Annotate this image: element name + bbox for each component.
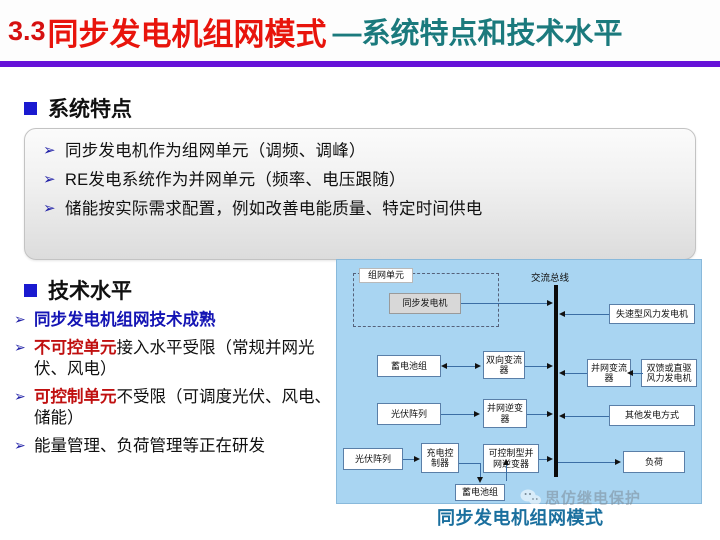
edge-charge-down (459, 463, 481, 464)
tech-item-text: 同步发电机组网技术成熟 (34, 310, 216, 331)
list-item: ➢ 能量管理、负荷管理等正在研发 (14, 436, 344, 457)
emphasis-text: 不可控单元 (34, 339, 117, 357)
section-label: 技术水平 (48, 275, 132, 305)
ac-bus-bar (554, 285, 558, 477)
title-main: 同步发电机组网模式 (48, 9, 327, 54)
section-heading-tech-level: 技术水平 (24, 275, 132, 305)
arrow-head-icon (547, 411, 553, 417)
wechat-icon (520, 489, 542, 506)
section-heading-features: 系统特点 (24, 93, 132, 123)
arrow-head-icon (503, 459, 509, 465)
arrow-head-icon (477, 477, 483, 483)
node-charge-controller: 充电控制器 (421, 443, 459, 473)
list-item: ➢ 可控制单元不受限（可调度光伏、风电、储能） (14, 387, 344, 429)
node-controllable-grid-inverter: 可控制型并网逆变器 (483, 444, 539, 473)
edge-bus-load (558, 462, 616, 463)
arrow-head-icon (559, 311, 565, 317)
features-panel: ➢ 同步发电机作为组网单元（调频、调峰） ➢ RE发电系统作为并网单元（频率、电… (24, 128, 696, 260)
arrow-head-icon (547, 300, 553, 306)
list-item: ➢ 不可控单元接入水平受限（常规并网光伏、风电） (14, 338, 344, 380)
edge-pv-inverter (441, 414, 475, 415)
edge-gridconv-bus (565, 373, 587, 374)
section-label: 系统特点 (48, 93, 132, 123)
square-bullet-icon (24, 102, 37, 115)
arrow-head-icon (547, 363, 553, 369)
node-sync-generator: 同步发电机 (389, 293, 461, 314)
feature-text: 储能按实际需求配置，例如改善电能质量、特定时间供电 (65, 199, 483, 219)
watermark-text: 思仿继电保护 (545, 487, 641, 508)
arrow-head-icon (414, 456, 420, 462)
list-item: ➢ 储能按实际需求配置，例如改善电能质量、特定时间供电 (43, 199, 683, 219)
slide-header: 3.3 同步发电机组网模式 —系统特点和技术水平 (0, 0, 720, 66)
node-grid-inverter: 并网逆变器 (483, 399, 527, 428)
arrow-head-icon (441, 363, 447, 369)
arrow-bullet-icon: ➢ (14, 310, 34, 331)
tech-item-text: 可控制单元不受限（可调度光伏、风电、储能） (34, 387, 344, 429)
edge-stallwind-bus (565, 314, 609, 315)
node-pv-array-2: 光伏阵列 (343, 448, 403, 470)
tech-item-text: 不可控单元接入水平受限（常规并网光伏、风电） (34, 338, 344, 380)
arrow-head-icon (547, 456, 553, 462)
arrow-bullet-icon: ➢ (43, 141, 65, 160)
edge-syncgen-bus (461, 303, 549, 304)
node-battery-1: 蓄电池组 (377, 355, 441, 377)
node-pv-array-1: 光伏阵列 (377, 403, 441, 425)
arrow-head-icon (627, 370, 633, 376)
node-dfig-wind: 双馈或直驱风力发电机 (641, 359, 697, 387)
emphasis-text: 可控制单元 (34, 388, 117, 406)
group-label-box: 组网单元 (359, 268, 413, 283)
arrow-head-icon (615, 459, 621, 465)
arrow-head-icon (559, 370, 565, 376)
list-item: ➢ RE发电系统作为并网单元（频率、电压跟随） (43, 170, 683, 190)
node-grid-converter: 并网变流器 (587, 359, 631, 387)
arrow-bullet-icon: ➢ (43, 199, 65, 218)
arrow-head-icon (474, 411, 480, 417)
title-subtitle: —系统特点和技术水平 (333, 10, 623, 52)
features-list: ➢ 同步发电机作为组网单元（调频、调峰） ➢ RE发电系统作为并网单元（频率、电… (43, 141, 683, 228)
arrow-head-icon (475, 363, 481, 369)
node-load: 负荷 (623, 451, 685, 473)
system-diagram: 组网单元 交流总线 同步发电机 失速型风力发电机 蓄电池组 双向变流器 并网变流… (336, 259, 702, 504)
emphasis-text: 同步发电机组网技术成熟 (34, 311, 216, 329)
edge-inverter-bus (527, 414, 549, 415)
node-battery-2: 蓄电池组 (455, 484, 505, 501)
edge-battery-ctrlinv (506, 465, 507, 481)
arrow-bullet-icon: ➢ (43, 170, 65, 189)
tech-level-list: ➢ 同步发电机组网技术成熟 ➢ 不可控单元接入水平受限（常规并网光伏、风电） ➢… (14, 310, 344, 464)
edge-bidir-bus (525, 366, 549, 367)
node-other-generation: 其他发电方式 (609, 405, 695, 426)
edge-othergen-bus (565, 416, 609, 417)
bus-label: 交流总线 (531, 270, 569, 284)
arrow-bullet-icon: ➢ (14, 387, 34, 408)
tech-item-text: 能量管理、负荷管理等正在研发 (34, 436, 265, 457)
title-divider (0, 61, 720, 67)
page-title: 3.3 同步发电机组网模式 —系统特点和技术水平 (8, 4, 720, 58)
arrow-head-icon (559, 413, 565, 419)
node-bidirectional-converter: 双向变流器 (483, 351, 525, 379)
title-number: 3.3 (8, 16, 46, 47)
rest-text: 能量管理、负荷管理等正在研发 (34, 437, 265, 455)
feature-text: 同步发电机作为组网单元（调频、调峰） (65, 141, 366, 161)
watermark: 思仿继电保护 (520, 487, 641, 508)
arrow-bullet-icon: ➢ (14, 436, 34, 457)
edge-battery-bidir (447, 366, 477, 367)
feature-text: RE发电系统作为并网单元（频率、电压跟随） (65, 170, 406, 190)
arrow-bullet-icon: ➢ (14, 338, 34, 359)
list-item: ➢ 同步发电机组网技术成熟 (14, 310, 344, 331)
list-item: ➢ 同步发电机作为组网单元（调频、调峰） (43, 141, 683, 161)
square-bullet-icon (24, 284, 37, 297)
node-stall-wind: 失速型风力发电机 (609, 304, 695, 324)
